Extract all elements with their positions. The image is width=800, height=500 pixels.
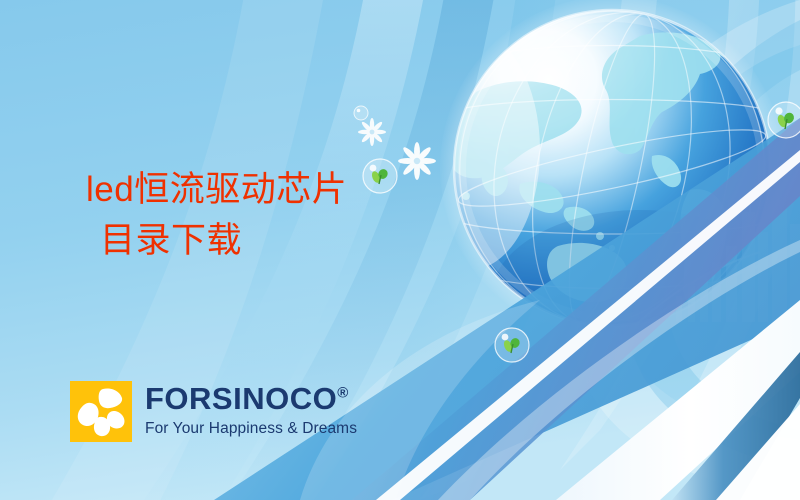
flower-burst-icon bbox=[398, 142, 436, 180]
logo-tagline: For Your Happiness & Dreams bbox=[145, 421, 357, 437]
logo-wordmark: FORSINOCO® bbox=[145, 383, 357, 414]
logo-text-block: FORSINOCO® For Your Happiness & Dreams bbox=[145, 381, 357, 437]
bubble-sprout-icon bbox=[495, 328, 529, 362]
logo-wordmark-text: FORSINOCO bbox=[145, 381, 337, 416]
bubble-sprout-icon bbox=[363, 159, 397, 193]
company-logo: FORSINOCO® For Your Happiness & Dreams bbox=[70, 381, 357, 442]
headline-line-2: 目录下载 bbox=[86, 219, 347, 264]
slide-canvas: led恒流驱动芯片 目录下载 FORSINOCO® For Your Happi… bbox=[0, 0, 800, 500]
flower-burst-icon bbox=[358, 118, 386, 146]
four-petal-flower-icon bbox=[70, 381, 132, 442]
registered-trademark-mark: ® bbox=[337, 385, 348, 402]
slide-headline: led恒流驱动芯片 目录下载 bbox=[86, 168, 347, 264]
bubble-sprout-icon bbox=[768, 102, 800, 138]
bubble-icon bbox=[354, 106, 368, 120]
headline-line-1: led恒流驱动芯片 bbox=[86, 168, 347, 213]
